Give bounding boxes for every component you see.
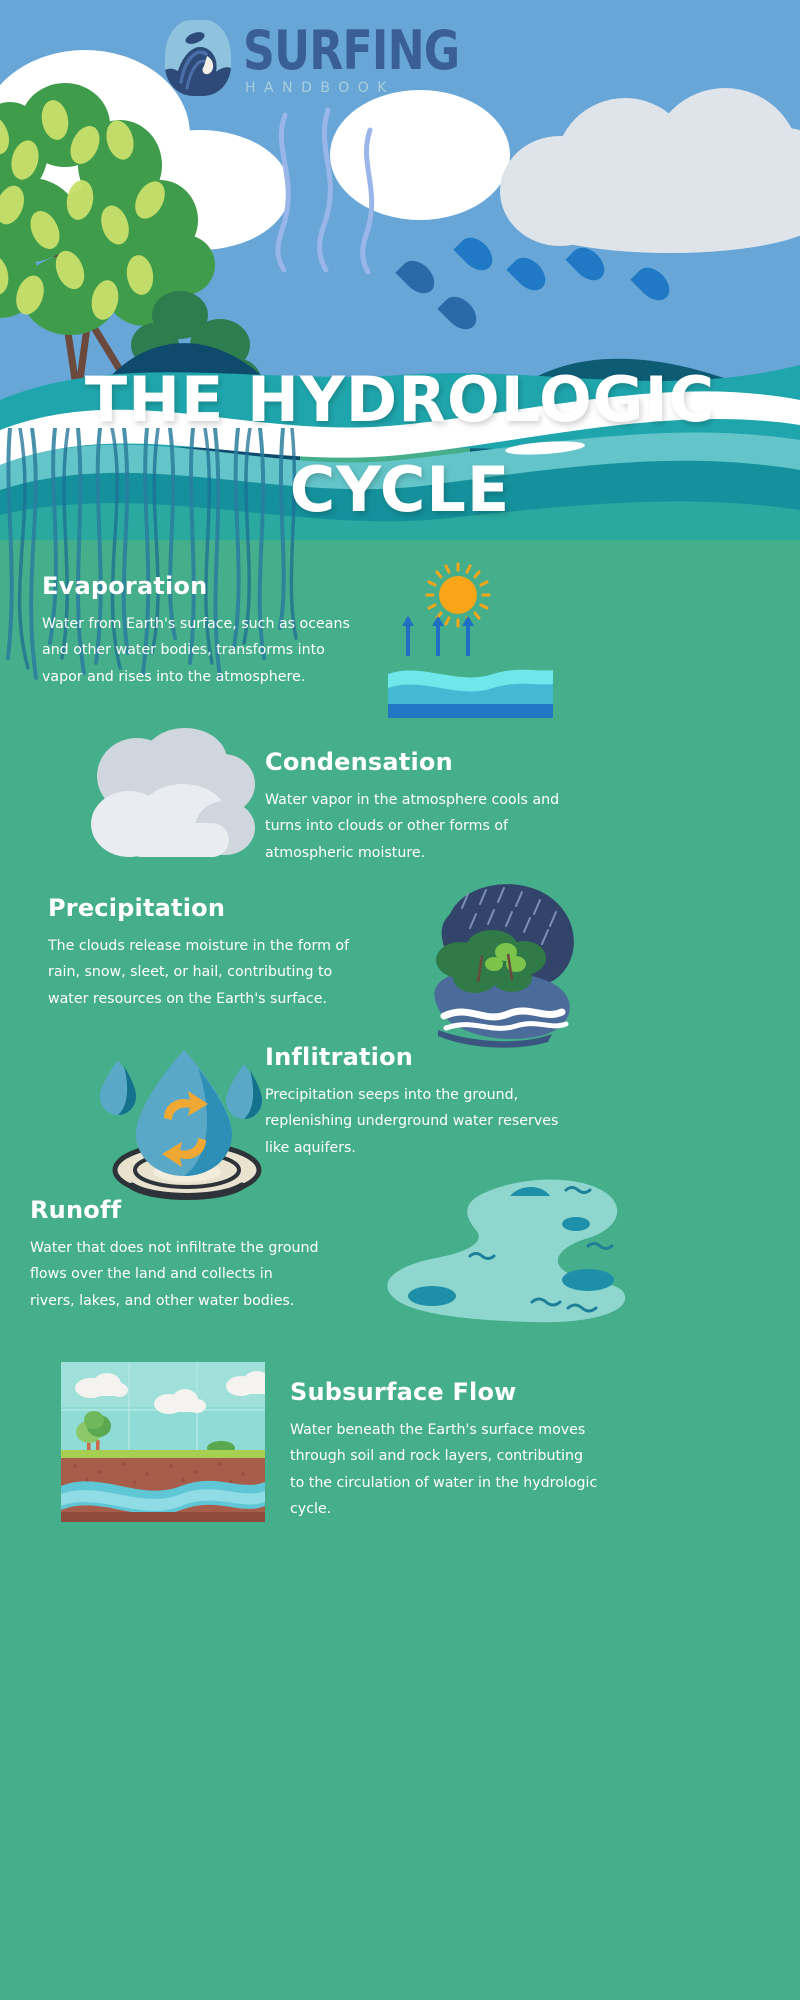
section-body: The clouds release moisture in the form … [48, 933, 368, 1012]
sun-icon [427, 564, 489, 626]
sun-over-water-illustration [383, 556, 563, 726]
page-title: THE HYDROLOGIC CYCLE [0, 355, 800, 535]
section-body: Water from Earth's surface, such as ocea… [42, 611, 352, 690]
brand-subtitle: HANDBOOK [245, 81, 507, 95]
section-heading: Inflitration [265, 1043, 585, 1071]
section-heading: Precipitation [48, 894, 368, 922]
section-subsurface-flow: Subsurface Flow Water beneath the Earth'… [290, 1378, 600, 1522]
wave-logo-icon [165, 20, 231, 96]
water-layers-icon [388, 670, 553, 718]
runoff-lake-illustration [370, 1168, 630, 1328]
condensation-cloud-illustration [85, 728, 265, 868]
brand-logo[interactable]: SURFING HANDBOOK [165, 20, 507, 96]
section-body: Water vapor in the atmosphere cools and … [265, 787, 585, 866]
section-heading: Evaporation [42, 572, 352, 600]
cloud-grey-large [500, 88, 800, 248]
section-heading: Condensation [265, 748, 585, 776]
vapor-squiggle-icon [270, 105, 410, 275]
infiltration-illustration [92, 1030, 282, 1210]
precipitation-illustration [420, 878, 600, 1048]
section-heading: Subsurface Flow [290, 1378, 600, 1406]
evaporation-arrows-icon [402, 616, 474, 656]
page-title-line1: THE HYDROLOGIC [85, 363, 715, 436]
cloud-grey-icon [91, 728, 255, 857]
section-runoff: Runoff Water that does not infiltrate th… [30, 1196, 320, 1314]
brand-title: SURFING [243, 24, 459, 78]
page-title-line2: CYCLE [0, 445, 800, 535]
section-body: Precipitation seeps into the ground, rep… [265, 1082, 585, 1161]
section-body: Water beneath the Earth's surface moves … [290, 1417, 600, 1522]
section-precipitation: Precipitation The clouds release moistur… [48, 894, 368, 1012]
section-evaporation: Evaporation Water from Earth's surface, … [42, 572, 352, 690]
section-heading: Runoff [30, 1196, 320, 1224]
raindrop-icon [453, 231, 498, 276]
infographic-poster: SURFING HANDBOOK THE HYDROLOGIC CYCLE Ev… [0, 0, 800, 2000]
section-body: Water that does not infiltrate the groun… [30, 1235, 320, 1314]
small-droplet-icon [226, 1064, 262, 1119]
section-infiltration: Inflitration Precipitation seeps into th… [265, 1043, 585, 1161]
small-droplet-icon [100, 1060, 136, 1115]
section-condensation: Condensation Water vapor in the atmosphe… [265, 748, 585, 866]
subsurface-cross-section-illustration [61, 1362, 265, 1522]
